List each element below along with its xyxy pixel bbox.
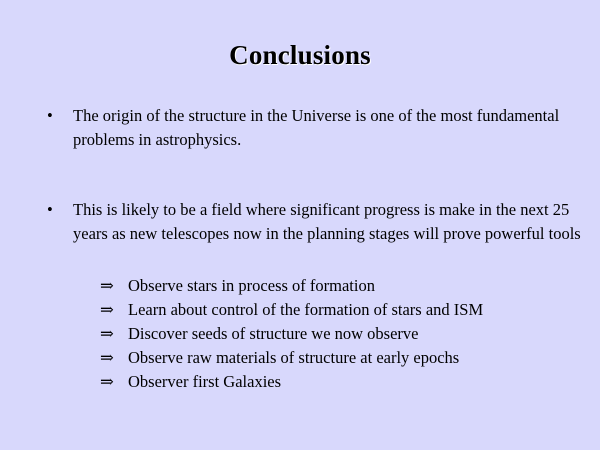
- sub-list-item: ⇒ Learn about control of the formation o…: [100, 298, 590, 322]
- sub-list-item: ⇒ Discover seeds of structure we now obs…: [100, 322, 590, 346]
- double-arrow-right-icon: ⇒: [100, 346, 122, 370]
- slide-title: Conclusions: [0, 40, 600, 70]
- round-bullet-icon: •: [47, 198, 65, 222]
- presentation-slide: Conclusions • The origin of the structur…: [0, 0, 600, 450]
- sub-item-text: Learn about control of the formation of …: [128, 298, 483, 322]
- slide-body-bullet-list: • The origin of the structure in the Uni…: [44, 104, 584, 246]
- bullet-list-item: • This is likely to be a field where sig…: [44, 198, 584, 246]
- bullet-item-text: The origin of the structure in the Unive…: [73, 104, 584, 152]
- bullet-item-text: This is likely to be a field where signi…: [73, 198, 584, 246]
- sub-item-text: Observer first Galaxies: [128, 370, 281, 394]
- round-bullet-icon: •: [47, 104, 65, 128]
- sub-list-item: ⇒ Observe raw materials of structure at …: [100, 346, 590, 370]
- double-arrow-right-icon: ⇒: [100, 370, 122, 394]
- double-arrow-right-icon: ⇒: [100, 298, 122, 322]
- double-arrow-right-icon: ⇒: [100, 322, 122, 346]
- double-arrow-right-icon: ⇒: [100, 274, 122, 298]
- sub-item-text: Discover seeds of structure we now obser…: [128, 322, 419, 346]
- sub-list-item: ⇒ Observer first Galaxies: [100, 370, 590, 394]
- sub-list-item: ⇒ Observe stars in process of formation: [100, 274, 590, 298]
- bullet-list-item: • The origin of the structure in the Uni…: [44, 104, 584, 152]
- sub-item-text: Observe stars in process of formation: [128, 274, 375, 298]
- slide-sub-item-list: ⇒ Observe stars in process of formation …: [100, 274, 590, 394]
- sub-item-text: Observe raw materials of structure at ea…: [128, 346, 459, 370]
